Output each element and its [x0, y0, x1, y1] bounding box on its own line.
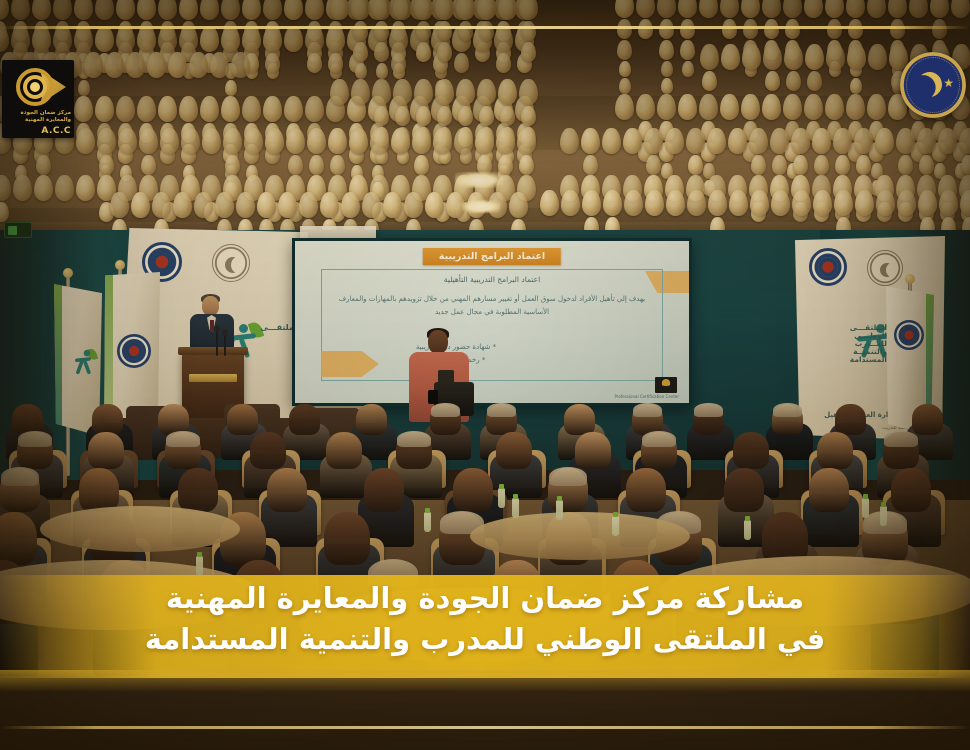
audience-member-hair: [549, 467, 587, 486]
audience-member-head: [626, 468, 666, 512]
acc-logo-mark: [10, 66, 66, 108]
slide-footer-logo: [655, 377, 677, 393]
top-gold-rule: [0, 26, 970, 29]
audience-member-head: [733, 432, 769, 469]
audience-member-head: [809, 468, 849, 512]
event-photo-card: الملتقـــى تحت رعاية وزارة العمل والتأهي…: [0, 0, 970, 750]
audience-member-head: [564, 404, 595, 435]
projection-screen: اعتماد البرامج التدريبية اعتماد البرامج …: [292, 238, 692, 406]
slide-paragraph: يهدف إلى تأهيل الأفراد لدخول سوق العمل أ…: [329, 293, 655, 319]
audience-member-head: [817, 432, 853, 469]
figure-head: [83, 350, 89, 356]
camera-lens: [428, 390, 438, 404]
ceiling-light: [462, 200, 500, 213]
audience-member-head: [453, 468, 493, 512]
caption-text: مشاركة مركز ضمان الجودة والمعايرة المهني…: [0, 578, 970, 660]
audience-member-head: [496, 432, 532, 469]
water-bottle: [556, 500, 563, 520]
microphone: [216, 330, 218, 356]
banquet-table: [40, 506, 240, 552]
podium-nameplate: [189, 374, 237, 382]
audience-member-head: [267, 468, 307, 512]
speaker-head: [202, 296, 219, 316]
water-bottle: [862, 498, 869, 518]
audience-member-head: [326, 432, 362, 469]
water-bottle: [498, 488, 505, 508]
audience-member-head: [356, 404, 387, 435]
audience-member-head: [912, 404, 943, 435]
audience-member-head: [178, 468, 218, 512]
training-authority-emblem: [809, 248, 847, 286]
audience-member-head: [575, 432, 611, 469]
acc-arabic-line-2: والمعايرة المهنية: [25, 117, 71, 123]
flag-emblem: [894, 320, 924, 350]
audience-member-head: [724, 468, 764, 512]
water-bottle: [744, 520, 751, 540]
banner-title-line: المستدامة: [850, 355, 887, 364]
audience-member-hair: [773, 403, 802, 417]
flag-emblem: [117, 334, 151, 368]
acc-logo-arabic: مركز ضمان الجودة والمعايرة المهنية: [2, 110, 71, 124]
audience-member-head: [0, 512, 37, 565]
state-seal-emblem: [867, 250, 903, 286]
caption-line-2: في الملتقى الوطني للمدرب والتنمية المستد…: [34, 619, 936, 660]
audience-member-hair: [884, 431, 918, 447]
bottom-gold-rule: [0, 726, 970, 729]
flag-logo-mark: [71, 350, 95, 370]
audience-member-head: [324, 512, 370, 565]
acc-abbreviation: A.C.C: [2, 126, 71, 136]
slide-footer-caption: Professional Certification Center: [615, 394, 679, 399]
projected-slide: اعتماد البرامج التدريبية اعتماد البرامج …: [295, 241, 689, 403]
audience-member-head: [79, 468, 119, 512]
acc-logo: مركز ضمان الجودة والمعايرة المهنية A.C.C: [2, 60, 74, 138]
ceiling-light: [455, 172, 503, 188]
podium-top: [178, 347, 248, 355]
ceiling-beam-middle: [0, 96, 970, 150]
caption-line-1: مشاركة مركز ضمان الجودة والمعايرة المهني…: [34, 578, 936, 619]
water-bottle: [424, 512, 431, 532]
water-bottle: [512, 498, 519, 518]
banquet-table: [470, 512, 690, 560]
videographer-head: [428, 330, 448, 354]
exit-sign: [4, 222, 32, 238]
audience-member-hair: [694, 403, 723, 417]
libya-state-emblem: ★: [900, 52, 966, 118]
audience-member-head: [364, 468, 404, 512]
star-icon: ★: [943, 77, 954, 89]
ceiling-beam-top: [0, 0, 970, 26]
audience-member-head: [88, 432, 124, 469]
water-bottle: [612, 516, 619, 536]
water-bottle: [880, 506, 887, 526]
audience-member-hair: [633, 403, 662, 417]
audience-member-hair: [166, 431, 200, 447]
audience-member-hair: [18, 431, 52, 447]
audience-member-hair: [397, 431, 431, 447]
acc-center-dot: [30, 82, 40, 92]
acc-arabic-line-1: مركز ضمان الجودة: [21, 110, 71, 116]
audience-member-head: [891, 468, 931, 512]
banner-title-right: الملتقـــى الوطنــي للمــدرب والتنميــة …: [850, 324, 887, 363]
audience-member-hair: [642, 431, 676, 447]
slide-title: اعتماد البرامج التدريبية: [423, 248, 561, 265]
audience-member-hair: [487, 403, 516, 417]
water-bottle: [196, 556, 203, 576]
audience-member-hair: [1, 467, 39, 486]
audience-member-hair: [431, 403, 460, 417]
audience-member-head: [92, 404, 123, 435]
microphone: [224, 334, 226, 356]
audience-member-head: [250, 432, 286, 469]
state-seal-emblem: [212, 244, 250, 282]
audience-member-head: [227, 404, 258, 435]
audience-member-head: [289, 404, 320, 435]
figure-leg-right: [83, 360, 91, 375]
slide-subtitle: اعتماد البرامج التدريبية التأهيلية: [295, 275, 689, 284]
audience-member-head: [835, 404, 866, 435]
figure-head: [239, 324, 248, 333]
